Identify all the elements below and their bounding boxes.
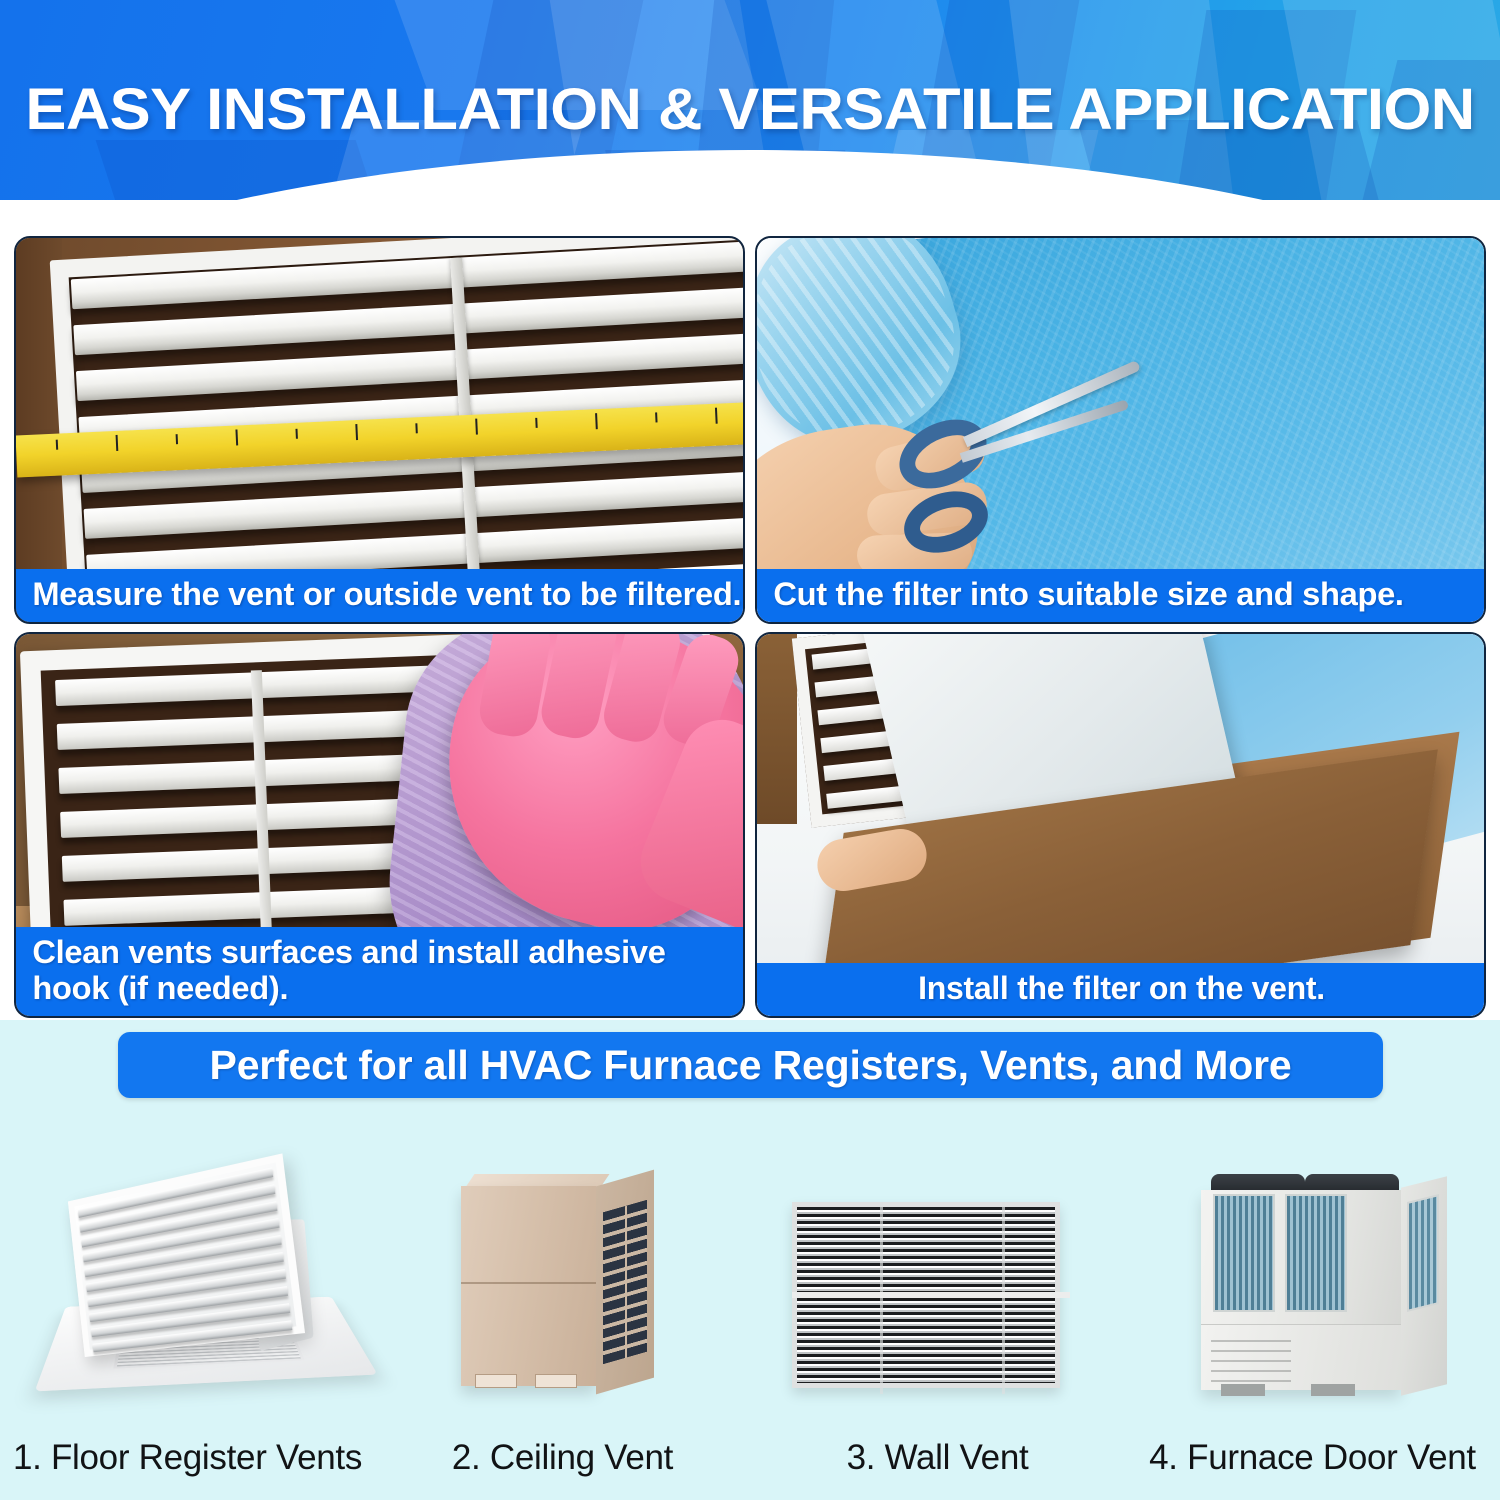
measuring-vent-photo: [16, 238, 743, 622]
page-title: EASY INSTALLATION & VERSATILE APPLICATIO…: [0, 76, 1500, 143]
application-label-2: 2. Ceiling Vent: [452, 1422, 673, 1478]
versatility-banner-text: Perfect for all HVAC Furnace Registers, …: [210, 1042, 1292, 1089]
application-row: 1. Floor Register Vents 2. Ceiling Vent: [0, 1118, 1500, 1478]
step-caption-4: Install the filter on the vent.: [757, 963, 1484, 1016]
ceiling-cassette-register-vent-image: [0, 1164, 375, 1422]
step-panel-3: Clean vents surfaces and install adhesiv…: [14, 632, 745, 1018]
application-item-3: 3. Wall Vent: [750, 1118, 1125, 1478]
infographic-page: EASY INSTALLATION & VERSATILE APPLICATIO…: [0, 0, 1500, 1500]
installing-filter-photo: [757, 634, 1484, 1016]
application-label-3: 3. Wall Vent: [847, 1422, 1029, 1478]
step-panel-1: Measure the vent or outside vent to be f…: [14, 236, 745, 624]
application-item-2: 2. Ceiling Vent: [375, 1118, 750, 1478]
step-panel-4: Install the filter on the vent.: [755, 632, 1486, 1018]
application-label-1: 1. Floor Register Vents: [13, 1422, 362, 1478]
application-label-4: 4. Furnace Door Vent: [1149, 1422, 1476, 1478]
step-caption-1: Measure the vent or outside vent to be f…: [16, 569, 745, 622]
steps-grid: Measure the vent or outside vent to be f…: [14, 236, 1486, 1018]
header-banner: EASY INSTALLATION & VERSATILE APPLICATIO…: [0, 0, 1500, 212]
application-item-4: 4. Furnace Door Vent: [1125, 1118, 1500, 1478]
application-item-1: 1. Floor Register Vents: [0, 1118, 375, 1478]
step-caption-2: Cut the filter into suitable size and sh…: [757, 569, 1486, 622]
cutting-filter-photo: [757, 238, 1484, 622]
versatility-banner: Perfect for all HVAC Furnace Registers, …: [118, 1032, 1383, 1098]
commercial-hvac-condenser-unit-image: [1125, 1164, 1500, 1422]
step-panel-2: Cut the filter into suitable size and sh…: [755, 236, 1486, 624]
step-caption-3: Clean vents surfaces and install adhesiv…: [16, 927, 745, 1016]
beige-hvac-outdoor-unit-image: [375, 1164, 750, 1422]
rectangular-slatted-wall-vent-image: [750, 1164, 1125, 1422]
